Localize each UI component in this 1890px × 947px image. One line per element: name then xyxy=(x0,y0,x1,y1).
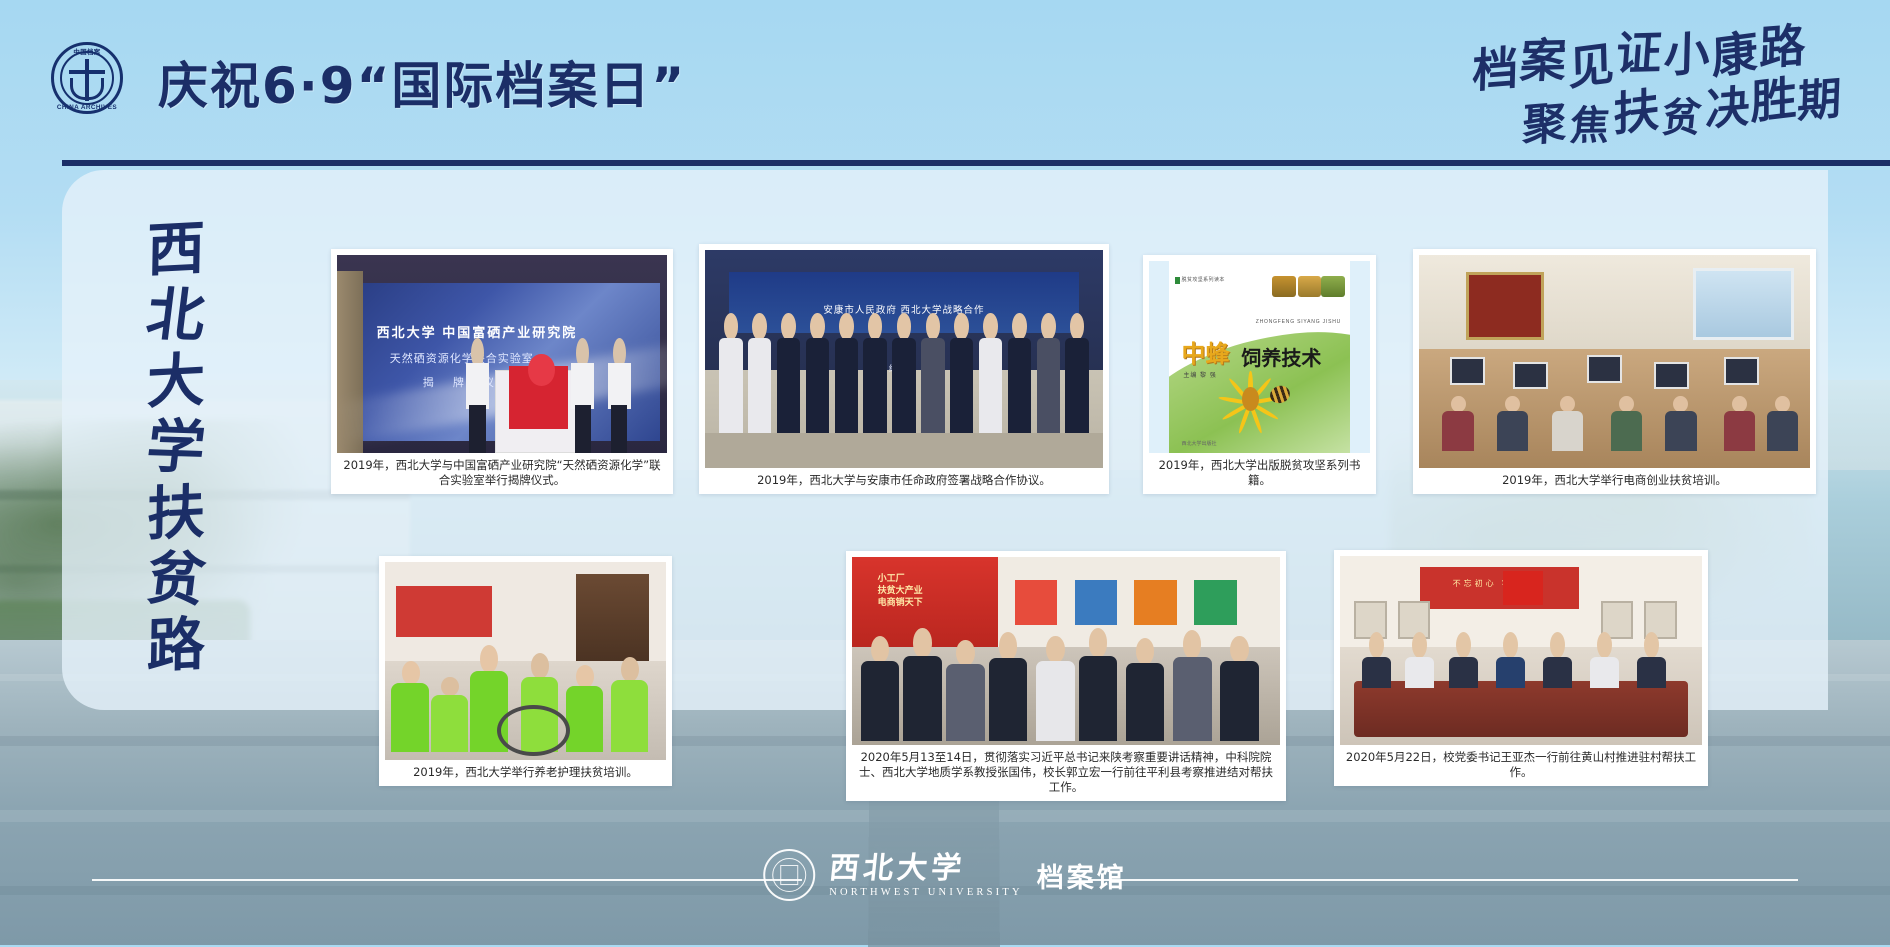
photo-card-6[interactable]: 小工厂扶贫大产业电商销天下 2020年5月13至14日，贯彻落实习近平总书记来陕… xyxy=(846,551,1286,801)
photo-caption-6: 2020年5月13至14日，贯彻落实习近平总书记来陕考察重要讲话精神，中科院院士… xyxy=(852,745,1280,801)
university-name-en: NORTHWEST UNIVERSITY xyxy=(829,887,1023,898)
photo-image-1: 西北大学 中国富硒产业研究院 天然硒资源化学联合实验室 揭 牌 仪 式 xyxy=(337,255,667,453)
photo-card-1[interactable]: 西北大学 中国富硒产业研究院 天然硒资源化学联合实验室 揭 牌 仪 式 2019… xyxy=(331,249,673,494)
photo-3-book-publisher: 西北大学出版社 xyxy=(1182,440,1217,447)
photo-image-2: 安康市人民政府 西北大学战略合作 签 约 仪 式 xyxy=(705,250,1103,468)
footer-divider-right xyxy=(1088,879,1798,881)
photo-card-5[interactable]: 2019年，西北大学举行养老护理扶贫培训。 xyxy=(379,556,672,786)
photo-6-wall-text: 小工厂扶贫大产业电商销天下 xyxy=(878,572,923,608)
photo-caption-7: 2020年5月22日，校党委书记王亚杰一行前往黄山村推进驻村帮扶工作。 xyxy=(1340,745,1702,786)
china-archives-emblem-text: 中国档案 CHINA ARCHIVES xyxy=(51,42,123,114)
photo-card-4[interactable]: 2019年，西北大学举行电商创业扶贫培训。 xyxy=(1413,249,1816,494)
photo-image-4 xyxy=(1419,255,1810,468)
photo-card-7[interactable]: 不忘初心 牢记使命 2020年5月22日，校党委书记王亚杰一行前往黄山村推进驻村… xyxy=(1334,550,1708,786)
footer-branding: 西北大学 NORTHWEST UNIVERSITY 档案馆 xyxy=(763,849,1127,901)
photo-caption-3: 2019年，西北大学出版脱贫攻坚系列书籍。 xyxy=(1149,453,1370,494)
photo-3-book-editor: 主编 黎 强 xyxy=(1183,370,1216,379)
photo-caption-5: 2019年，西北大学举行养老护理扶贫培训。 xyxy=(385,760,666,786)
page-footer: 西北大学 NORTHWEST UNIVERSITY 档案馆 xyxy=(0,815,1890,945)
page-header: 中国档案 CHINA ARCHIVES 庆祝6·9“国际档案日” 档案见证小康路… xyxy=(0,0,1890,152)
photo-3-book-tag: 脱贫攻坚系列读本 xyxy=(1182,276,1225,283)
department-name: 档案馆 xyxy=(1037,856,1127,895)
northwest-university-emblem-icon xyxy=(763,849,815,901)
calligraphy-slogan: 档案见证小康路 聚焦扶贫决胜期 xyxy=(1386,14,1866,150)
photo-7-banner-text: 不忘初心 牢记使命 xyxy=(1420,578,1579,589)
photo-caption-1: 2019年，西北大学与中国富硒产业研究院“天然硒资源化学”联合实验室举行揭牌仪式… xyxy=(337,453,667,494)
photo-caption-2: 2019年，西北大学与安康市任命政府签署战略合作协议。 xyxy=(705,468,1103,494)
photo-image-3: 脱贫攻坚系列读本 ZHONGFENG SIYANG JISHU 中蜂 饲养技术 … xyxy=(1149,261,1370,453)
footer-divider-left xyxy=(92,879,802,881)
emblem-ring-bottom-label: CHINA ARCHIVES xyxy=(51,104,123,111)
page-title: 庆祝6·9“国际档案日” xyxy=(158,46,686,118)
photo-1-screen-line-2: 天然硒资源化学联合实验室 xyxy=(390,350,534,366)
photo-card-3[interactable]: 脱贫攻坚系列读本 ZHONGFENG SIYANG JISHU 中蜂 饲养技术 … xyxy=(1143,255,1376,494)
photo-image-5 xyxy=(385,562,666,760)
photo-card-2[interactable]: 安康市人民政府 西北大学战略合作 签 约 仪 式 2019年，西北大学与安康市任… xyxy=(699,244,1109,494)
header-divider xyxy=(62,160,1890,166)
section-vertical-title: 西北大学扶贫路 xyxy=(128,216,224,678)
photo-image-7: 不忘初心 牢记使命 xyxy=(1340,556,1702,745)
photo-caption-4: 2019年，西北大学举行电商创业扶贫培训。 xyxy=(1419,468,1810,494)
emblem-ring-top-label: 中国档案 xyxy=(51,47,123,56)
photo-image-6: 小工厂扶贫大产业电商销天下 xyxy=(852,557,1280,745)
university-name-cn: 西北大学 xyxy=(828,853,1025,885)
photo-3-book-pinyin: ZHONGFENG SIYANG JISHU xyxy=(1256,319,1341,325)
